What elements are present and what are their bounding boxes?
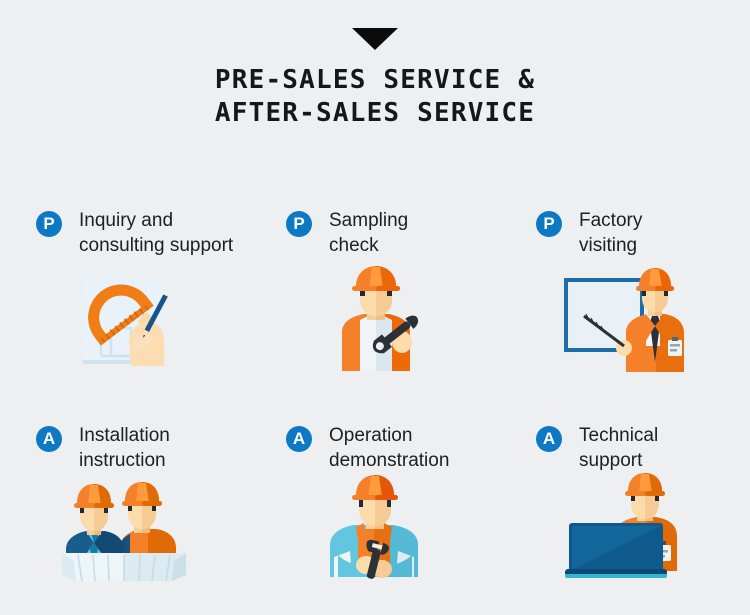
service-card-header: P Sampling check: [250, 188, 500, 266]
presales-badge-icon: P: [536, 211, 562, 237]
service-card-label: Inquiry and consulting support: [79, 208, 233, 258]
aftersales-badge-icon: A: [536, 426, 562, 452]
page-title-line-2: AFTER-SALES SERVICE: [0, 97, 750, 130]
protractor-hand-blueprint-illustration: [0, 266, 250, 386]
service-card-technical[interactable]: A Technical support: [500, 401, 750, 614]
service-card-inquiry[interactable]: P Inquiry and consulting support: [0, 188, 250, 401]
aftersales-badge-icon: A: [286, 426, 312, 452]
service-card-label: Sampling check: [329, 208, 408, 258]
service-label-line-2: consulting support: [79, 235, 233, 256]
triangle-down-icon: [352, 28, 398, 50]
service-card-label: Operation demonstration: [329, 423, 449, 473]
service-card-label: Technical support: [579, 423, 658, 473]
service-card-operation[interactable]: A Operation demonstration: [250, 401, 500, 614]
aftersales-badge-icon: A: [36, 426, 62, 452]
services-row-1: P Inquiry and consulting support: [0, 188, 750, 401]
service-label-line-2: visiting: [579, 235, 637, 256]
worker-with-wrench-illustration: [250, 266, 500, 386]
service-label-line-1: Inquiry and: [79, 210, 173, 231]
service-label-line-1: Sampling: [329, 210, 408, 231]
presales-badge-icon: P: [286, 211, 312, 237]
service-card-header: A Operation demonstration: [250, 401, 500, 479]
service-label-line-1: Installation: [79, 425, 170, 446]
services-row-2: A Installation instruction: [0, 401, 750, 614]
service-label-line-1: Technical: [579, 425, 658, 446]
service-card-label: Installation instruction: [79, 423, 170, 473]
service-card-installation[interactable]: A Installation instruction: [0, 401, 250, 614]
service-card-header: A Installation instruction: [0, 401, 250, 479]
two-workers-blueprint-illustration: [0, 471, 250, 591]
service-label-line-2: demonstration: [329, 450, 449, 471]
service-card-header: A Technical support: [500, 401, 750, 479]
service-card-header: P Factory visiting: [500, 188, 750, 266]
page-title: PRE-SALES SERVICE & AFTER-SALES SERVICE: [0, 64, 750, 130]
service-card-header: P Inquiry and consulting support: [0, 188, 250, 266]
service-label-line-2: check: [329, 235, 379, 256]
worker-overalls-wrench-illustration: [250, 471, 500, 591]
service-label-line-2: support: [579, 450, 642, 471]
page-header: PRE-SALES SERVICE & AFTER-SALES SERVICE: [0, 0, 750, 130]
service-label-line-2: instruction: [79, 450, 166, 471]
service-label-line-1: Factory: [579, 210, 642, 231]
services-grid: P Inquiry and consulting support: [0, 188, 750, 614]
service-card-sampling[interactable]: P Sampling check: [250, 188, 500, 401]
worker-laptop-illustration: [500, 471, 750, 591]
service-card-factory[interactable]: P Factory visiting: [500, 188, 750, 401]
service-card-label: Factory visiting: [579, 208, 642, 258]
page-title-line-1: PRE-SALES SERVICE &: [0, 64, 750, 97]
presales-badge-icon: P: [36, 211, 62, 237]
service-label-line-1: Operation: [329, 425, 412, 446]
presenter-whiteboard-illustration: [500, 266, 750, 386]
